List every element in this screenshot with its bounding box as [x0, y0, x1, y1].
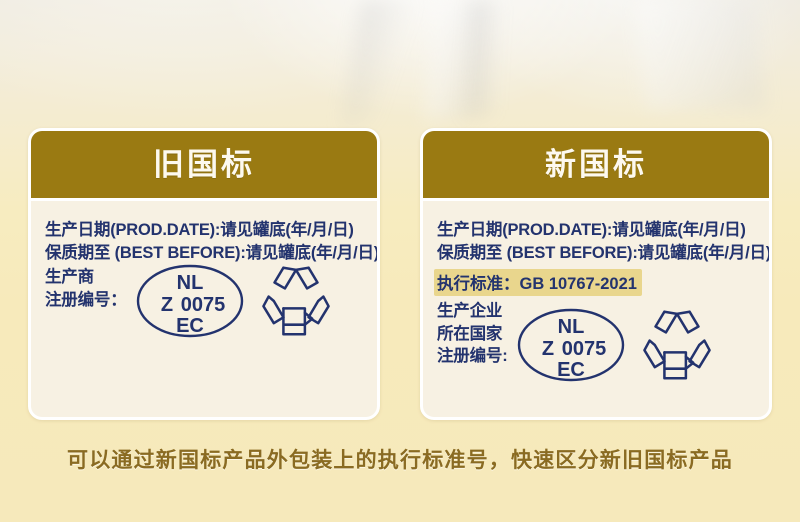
oval-text-bottom: EC [557, 359, 585, 381]
card-new-standard: 新国标 生产日期(PROD.DATE):请见罐底(年/月/日) 保质期至 (BE… [420, 128, 772, 420]
executive-standard-row: 执行标准：GB 10767-2021 [434, 269, 769, 296]
label-registration-number: 注册编号： [45, 289, 127, 312]
label-production-date: 生产日期(PROD.DATE):请见罐底(年/月/日) [437, 219, 769, 242]
card-title-new-standard: 新国标 [545, 149, 647, 180]
registration-labels: 生产企业 所在国家 注册编号: [437, 300, 508, 368]
registration-glyphs: NL Z 0075 EC [135, 262, 333, 340]
nl-ec-oval-icon: NL Z 0075 EC [135, 262, 245, 340]
nl-ec-oval-mark-old: NL Z 0075 EC [135, 262, 245, 340]
label-best-before: 保质期至 (BEST BEFORE):请见罐底(年/月/日) [437, 242, 769, 265]
footer-caption: 可以通过新国标产品外包装上的执行标准号，快速区分新旧国标产品 [0, 444, 800, 474]
card-body-old-standard: 生产日期(PROD.DATE):请见罐底(年/月/日) 保质期至 (BEST B… [31, 201, 377, 340]
card-body-new-standard: 生产日期(PROD.DATE):请见罐底(年/月/日) 保质期至 (BEST B… [423, 201, 769, 384]
card-title-old-standard: 旧国标 [153, 149, 255, 180]
oval-text-top: NL [176, 272, 203, 294]
standards-card-group: 旧国标 生产日期(PROD.DATE):请见罐底(年/月/日) 保质期至 (BE… [0, 0, 800, 440]
recycle-mobius-icon [640, 308, 714, 382]
label-country-of-origin: 所在国家 [437, 323, 508, 346]
card-header-old-standard: 旧国标 [31, 131, 377, 201]
oval-text-middle-right: 0075 [561, 338, 606, 360]
nl-ec-oval-icon: NL Z 0075 EC [516, 306, 626, 384]
registration-marks-row: 生产商 注册编号： NL Z 0075 EC [45, 266, 377, 340]
comparison-infographic: 旧国标 生产日期(PROD.DATE):请见罐底(年/月/日) 保质期至 (BE… [0, 0, 800, 522]
registration-marks-row: 生产企业 所在国家 注册编号: NL Z 0075 EC [437, 300, 769, 384]
label-production-date: 生产日期(PROD.DATE):请见罐底(年/月/日) [45, 219, 377, 242]
nl-ec-oval-mark-new: NL Z 0075 EC [516, 306, 626, 384]
label-manufacturer: 生产商 [45, 266, 127, 289]
registration-labels: 生产商 注册编号： [45, 266, 127, 313]
oval-text-bottom: EC [176, 315, 204, 337]
oval-text-middle-left: Z [160, 294, 172, 316]
card-header-new-standard: 新国标 [423, 131, 769, 201]
oval-text-middle-left: Z [541, 338, 553, 360]
executive-standard-highlight: 执行标准：GB 10767-2021 [434, 269, 642, 296]
oval-text-top: NL [557, 316, 584, 338]
card-old-standard: 旧国标 生产日期(PROD.DATE):请见罐底(年/月/日) 保质期至 (BE… [28, 128, 380, 420]
label-producing-enterprise: 生产企业 [437, 300, 508, 323]
label-registration-number: 注册编号: [437, 345, 508, 368]
recycle-mobius-icon [259, 264, 333, 338]
oval-text-middle-right: 0075 [180, 294, 225, 316]
registration-glyphs: NL Z 0075 EC [516, 306, 714, 384]
